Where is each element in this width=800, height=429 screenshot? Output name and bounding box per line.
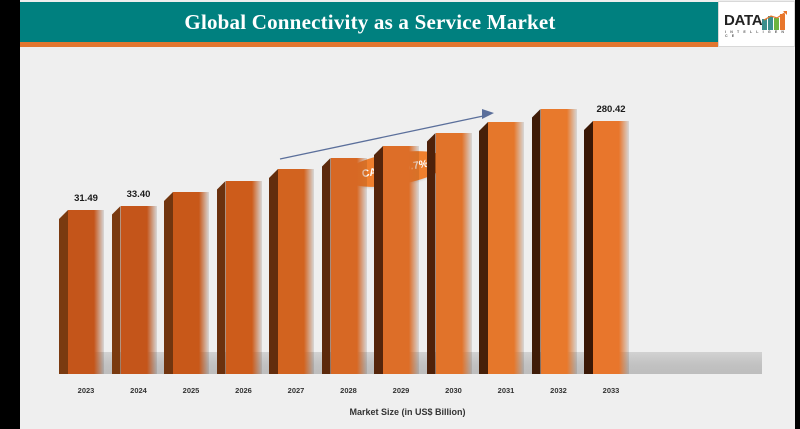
bar-2026 (226, 181, 262, 374)
bar-series: 202331.49202433.402025202620272028202920… (20, 47, 795, 429)
bar-2029 (383, 146, 419, 374)
bar-side-face (217, 181, 226, 374)
bar-side-face (374, 146, 383, 374)
bar-value-label: 31.49 (74, 193, 98, 204)
slide-canvas: Global Connectivity as a Service Market … (20, 0, 795, 429)
bar-front-face (226, 181, 262, 374)
bar-front-face (173, 192, 209, 374)
bar-2028 (331, 158, 367, 374)
bar-side-face (584, 121, 593, 374)
bar-front-face (121, 206, 157, 374)
bar-front-face (278, 169, 314, 374)
bar-front-face (383, 146, 419, 374)
bar-value-label: 33.40 (127, 189, 151, 200)
bar-side-face (427, 133, 436, 374)
bar-side-face (532, 109, 541, 374)
bar-side-face (269, 169, 278, 374)
logo-inner: DATA I N T E L L I G E N C E (724, 10, 792, 40)
bar-front-face (68, 210, 104, 374)
x-axis-label-2023: 2023 (78, 386, 95, 395)
bar-side-face (164, 192, 173, 374)
bar-2027 (278, 169, 314, 374)
x-axis-label-2032: 2032 (550, 386, 567, 395)
bar-side-face (59, 210, 68, 374)
x-axis-label-2030: 2030 (445, 386, 462, 395)
bar-front-face (541, 109, 577, 374)
logo-bar-chart-icon (762, 11, 788, 30)
page-title: Global Connectivity as a Service Market (20, 2, 720, 42)
bar-side-face (322, 158, 331, 374)
bar-side-face (112, 206, 121, 374)
logo-chart-svg (762, 11, 788, 30)
bar-2023: 31.49 (68, 210, 104, 374)
x-axis-label-2028: 2028 (340, 386, 357, 395)
bar-2024: 33.40 (121, 206, 157, 374)
x-axis-label-2029: 2029 (393, 386, 410, 395)
bar-2032 (541, 109, 577, 374)
bar-side-face (479, 122, 488, 374)
logo-wordmark: DATA (724, 12, 762, 29)
bar-2031 (488, 122, 524, 374)
axis-caption: Market Size (in US$ Billion) (20, 407, 795, 417)
x-axis-label-2031: 2031 (498, 386, 515, 395)
logo-subtitle: I N T E L L I G E N C E (725, 30, 791, 38)
bar-2033: 280.42 (593, 121, 629, 374)
x-axis-label-2024: 2024 (130, 386, 147, 395)
bar-2030 (436, 133, 472, 374)
x-axis-label-2026: 2026 (235, 386, 252, 395)
header-bar: Global Connectivity as a Service Market (20, 2, 795, 42)
brand-logo: DATA I N T E L L I G E N C E (718, 1, 795, 47)
bar-front-face (593, 121, 629, 374)
chart-area: CAGR: 26.7% 202331.49202433.402025202620… (20, 47, 795, 429)
x-axis-label-2033: 2033 (603, 386, 620, 395)
x-axis-label-2025: 2025 (183, 386, 200, 395)
bar-front-face (436, 133, 472, 374)
bar-2025 (173, 192, 209, 374)
bar-front-face (488, 122, 524, 374)
x-axis-label-2027: 2027 (288, 386, 305, 395)
bar-front-face (331, 158, 367, 374)
bar-value-label: 280.42 (596, 104, 625, 115)
